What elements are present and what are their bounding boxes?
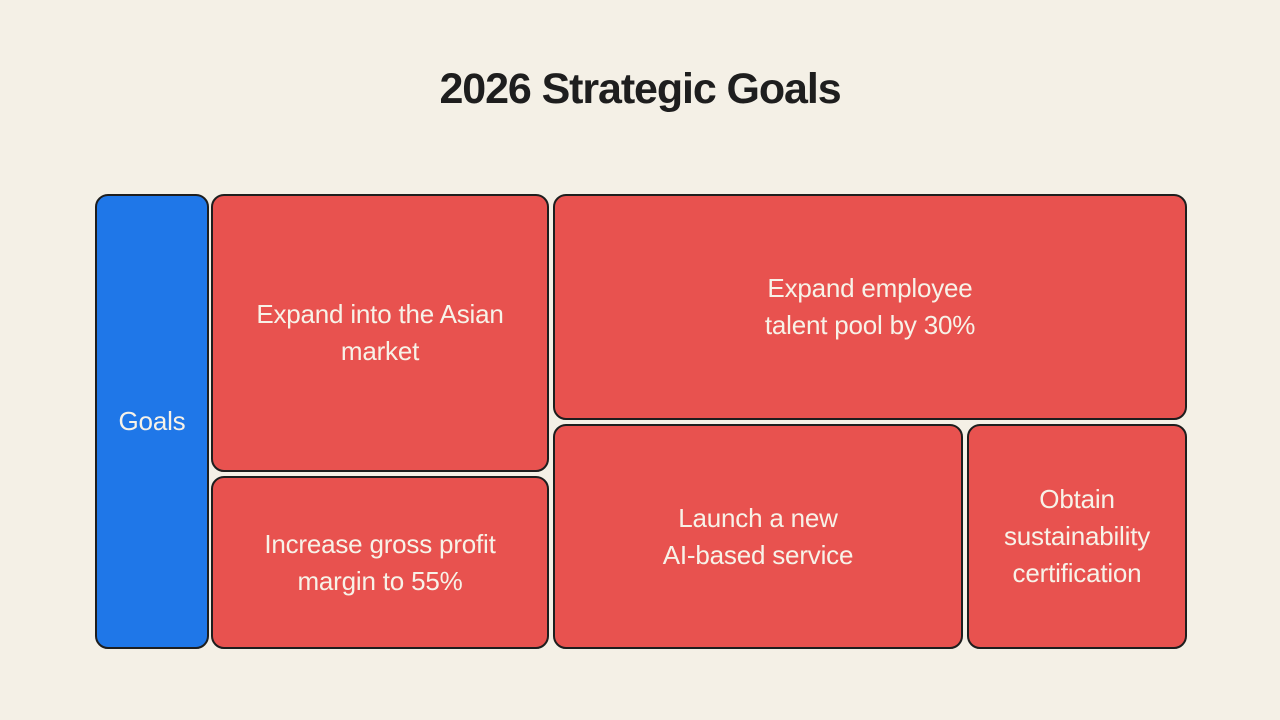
goal-card-ai-service[interactable]: Launch a new AI-based service (553, 424, 963, 649)
goal-card-label: Expand into the Asian market (256, 296, 503, 370)
goal-card-label: Launch a new AI-based service (663, 500, 853, 574)
goal-card-label: Expand employee talent pool by 30% (765, 270, 975, 344)
goal-card-talent-pool[interactable]: Expand employee talent pool by 30% (553, 194, 1187, 420)
category-card-label: Goals (119, 403, 186, 440)
goal-card-label: Increase gross profit margin to 55% (264, 526, 495, 600)
goal-card-gross-margin[interactable]: Increase gross profit margin to 55% (211, 476, 549, 649)
goal-card-sustainability[interactable]: Obtain sustainability certification (967, 424, 1187, 649)
goal-card-label: Obtain sustainability certification (983, 481, 1171, 592)
page-title: 2026 Strategic Goals (0, 64, 1280, 116)
category-card-goals[interactable]: Goals (95, 194, 209, 649)
goal-card-asia-market[interactable]: Expand into the Asian market (211, 194, 549, 472)
slide-canvas: 2026 Strategic Goals Goals Expand into t… (0, 0, 1280, 720)
goals-matrix: Goals Expand into the Asian market Incre… (95, 194, 1187, 649)
